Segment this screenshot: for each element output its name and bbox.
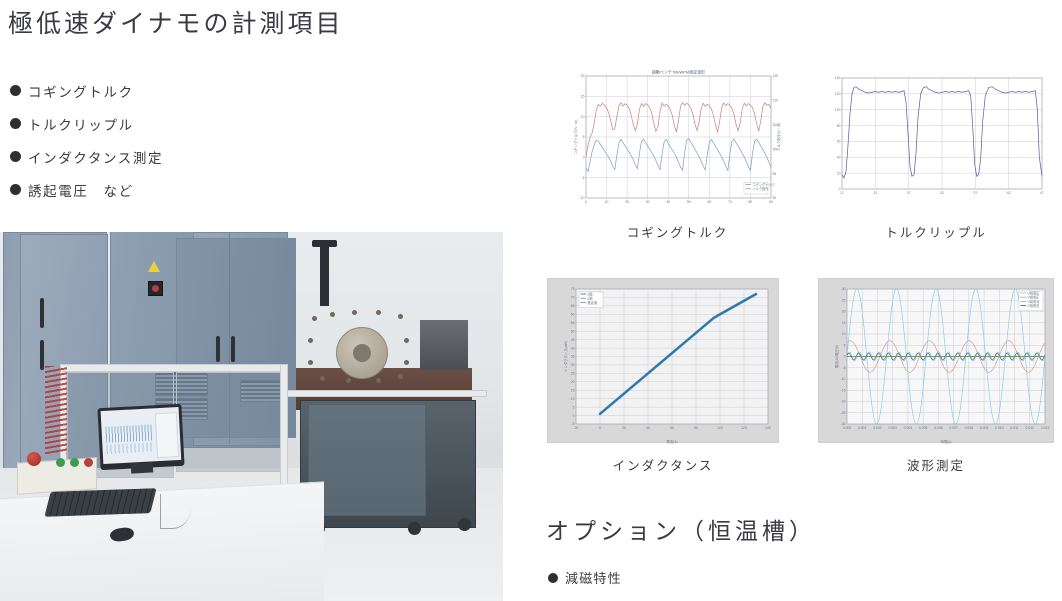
svg-text:10: 10	[581, 115, 585, 119]
svg-text:40: 40	[666, 200, 670, 204]
control-button-green[interactable]	[70, 458, 79, 467]
exhaust-pole-cap	[312, 240, 337, 247]
test-bench-photo	[0, 232, 503, 601]
svg-text:60: 60	[670, 426, 674, 430]
svg-text:120: 120	[741, 426, 747, 430]
svg-text:37: 37	[973, 191, 977, 195]
chart-waveform-svg: 0.0000.0010.0020.0030.0040.0050.0060.007…	[819, 279, 1055, 444]
svg-text:0.003: 0.003	[888, 426, 897, 430]
cable-bundle	[45, 366, 67, 454]
dyno-hub	[353, 344, 371, 362]
safety-rail-top	[60, 364, 287, 372]
svg-text:-5: -5	[581, 176, 584, 180]
svg-text:40: 40	[646, 426, 650, 430]
svg-text:推定値: 推定値	[588, 300, 598, 305]
svg-text:0.006: 0.006	[934, 426, 943, 430]
chart-inductance: -20020406080100120140-505101520253035404…	[547, 278, 779, 443]
svg-text:-20: -20	[574, 426, 579, 430]
svg-text:20: 20	[842, 310, 846, 314]
warning-triangle-icon	[148, 261, 160, 272]
svg-text:80: 80	[749, 200, 753, 204]
svg-text:0.008: 0.008	[965, 426, 974, 430]
list-item: コギングトルク	[10, 74, 340, 107]
list-item-label: 誘起電圧 など	[28, 180, 134, 200]
list-item-label: トルクリップル	[28, 114, 134, 134]
option-title: オプション（恒温槽）	[546, 512, 816, 546]
list-item: インダクタンス測定	[10, 140, 340, 173]
bullet-dot-icon	[548, 573, 558, 583]
svg-text:0.011: 0.011	[1010, 426, 1018, 430]
svg-text:45: 45	[571, 338, 575, 342]
svg-text:60: 60	[837, 140, 841, 144]
list-item: トルクリップル	[10, 107, 340, 140]
svg-text:75: 75	[571, 287, 575, 291]
chart-waveform: 0.0000.0010.0020.0030.0040.0050.0060.007…	[818, 278, 1054, 443]
svg-text:100: 100	[717, 426, 723, 430]
svg-text:0.012: 0.012	[1026, 426, 1035, 430]
svg-text:0.002: 0.002	[873, 426, 882, 430]
svg-text:50: 50	[571, 329, 575, 333]
keyboard[interactable]	[44, 488, 156, 517]
svg-text:5: 5	[844, 343, 846, 347]
svg-text:0.007: 0.007	[949, 426, 958, 430]
svg-text:0.005: 0.005	[919, 426, 928, 430]
exhaust-pole	[320, 240, 329, 306]
chart-cogging-torque-svg: 0102030405060708090-10-50510152090951001…	[560, 62, 795, 212]
svg-text:電流(A)/電圧(V): 電流(A)/電圧(V)	[834, 345, 839, 369]
svg-text:120: 120	[835, 92, 841, 96]
emergency-stop-button[interactable]	[27, 452, 41, 466]
chart-inductance-svg: -20020406080100120140-505101520253035404…	[548, 279, 780, 444]
svg-text:20: 20	[625, 200, 629, 204]
bullet-dot-icon	[10, 118, 21, 129]
svg-text:55: 55	[571, 321, 575, 325]
option-list-item-label: 減磁特性	[565, 568, 622, 587]
svg-text:0.001: 0.001	[858, 426, 867, 430]
svg-text:-10: -10	[841, 377, 846, 381]
svg-text:0.010: 0.010	[995, 426, 1004, 430]
svg-text:30: 30	[646, 200, 650, 204]
monitor-waveform	[105, 424, 152, 442]
chart-torque-ripple: 17222732374247020406080100120140	[822, 68, 1050, 203]
svg-text:70: 70	[728, 200, 732, 204]
svg-text:0.013: 0.013	[1041, 426, 1050, 430]
svg-text:0: 0	[583, 156, 585, 160]
measurement-items-list: コギングトルク トルクリップル インダクタンス測定 誘起電圧 など	[10, 74, 340, 206]
svg-text:-5: -5	[571, 422, 574, 426]
svg-text:115: 115	[773, 74, 779, 78]
list-item-label: コギングトルク	[28, 81, 134, 101]
svg-text:トルク指令(N・m): トルク指令(N・m)	[776, 123, 781, 151]
svg-text:20: 20	[571, 380, 575, 384]
list-item-label: インダクタンス測定	[28, 147, 163, 167]
monitor-panel	[155, 412, 179, 458]
svg-text:100: 100	[835, 108, 841, 112]
monitor-waveform	[106, 442, 152, 453]
svg-text:42: 42	[1007, 191, 1011, 195]
monitor-screen	[101, 407, 182, 464]
svg-text:0: 0	[844, 355, 846, 359]
svg-text:95: 95	[773, 172, 777, 176]
bullet-dot-icon	[10, 184, 21, 195]
svg-text:50: 50	[687, 200, 691, 204]
dyno-cart-window	[308, 404, 426, 516]
svg-text:5: 5	[573, 405, 575, 409]
option-list-item: 減磁特性	[548, 568, 622, 587]
svg-text:-5: -5	[842, 366, 845, 370]
svg-text:65: 65	[571, 304, 575, 308]
chart-caption-cogging-torque: コギングトルク	[560, 222, 795, 241]
svg-text:20: 20	[581, 74, 585, 78]
svg-text:-30: -30	[841, 422, 846, 426]
svg-text:10: 10	[842, 332, 846, 336]
cabinet-handle	[40, 298, 44, 328]
svg-text:10: 10	[605, 200, 609, 204]
bullet-dot-icon	[10, 151, 21, 162]
svg-text:17: 17	[840, 191, 844, 195]
list-item: 誘起電圧 など	[10, 173, 340, 206]
svg-text:30: 30	[842, 287, 846, 291]
svg-text:110: 110	[773, 99, 779, 103]
svg-text:47: 47	[1040, 191, 1044, 195]
svg-text:-25: -25	[841, 411, 846, 415]
svg-text:0: 0	[599, 426, 601, 430]
svg-text:0.009: 0.009	[980, 426, 989, 430]
svg-text:22: 22	[873, 191, 877, 195]
svg-text:0: 0	[585, 200, 587, 204]
svg-text:20: 20	[622, 426, 626, 430]
safety-rail-top	[287, 390, 487, 397]
svg-text:10: 10	[571, 397, 575, 401]
svg-text:5: 5	[583, 135, 585, 139]
svg-text:90: 90	[773, 196, 777, 200]
emergency-stop-icon	[148, 281, 163, 296]
svg-text:32: 32	[940, 191, 944, 195]
slide-page: 極低速ダイナモの計測項目 コギングトルク トルクリップル インダクタンス測定 誘…	[0, 0, 1062, 601]
svg-text:揺動ベンチ 50kWPM測定波形: 揺動ベンチ 50kWPM測定波形	[652, 69, 705, 75]
chart-caption-inductance: インダクタンス	[547, 455, 779, 474]
svg-text:15: 15	[571, 388, 575, 392]
svg-text:80: 80	[837, 124, 841, 128]
svg-text:-15: -15	[841, 388, 846, 392]
svg-text:140: 140	[835, 76, 841, 80]
svg-text:27: 27	[907, 191, 911, 195]
svg-text:80: 80	[694, 426, 698, 430]
svg-text:0.000: 0.000	[843, 426, 852, 430]
monitor-stand	[131, 462, 153, 473]
svg-text:0: 0	[839, 187, 841, 191]
svg-text:30: 30	[571, 363, 575, 367]
svg-text:15: 15	[842, 321, 846, 325]
svg-text:25: 25	[842, 298, 846, 302]
cabinet-handle	[40, 340, 44, 370]
svg-text:トルク指令: トルク指令	[753, 186, 770, 191]
dyno-motor-block	[420, 320, 468, 370]
control-button-green[interactable]	[56, 458, 65, 467]
svg-text:20: 20	[837, 171, 841, 175]
cabinet-handle	[231, 336, 235, 362]
bullet-dot-icon	[10, 85, 21, 96]
svg-text:15: 15	[581, 95, 585, 99]
svg-text:70: 70	[571, 296, 575, 300]
svg-text:0.004: 0.004	[904, 426, 913, 430]
svg-text:コギングトルク(N・m): コギングトルク(N・m)	[573, 120, 578, 155]
svg-text:電流(A): 電流(A)	[666, 439, 677, 444]
svg-text:-10: -10	[580, 196, 585, 200]
svg-text:40: 40	[571, 346, 575, 350]
svg-text:インダクタンス(mH): インダクタンス(mH)	[563, 341, 568, 372]
monitor	[97, 404, 184, 470]
svg-text:90: 90	[769, 200, 773, 204]
svg-text:時間(s): 時間(s)	[941, 439, 952, 444]
chart-caption-waveform: 波形測定	[818, 455, 1054, 474]
chart-torque-ripple-svg: 17222732374247020406080100120140	[822, 68, 1050, 203]
svg-text:V相電流: V相電流	[1028, 303, 1041, 308]
svg-text:60: 60	[707, 200, 711, 204]
chart-caption-torque-ripple: トルクリップル	[822, 222, 1050, 241]
chart-cogging-torque: 0102030405060708090-10-50510152090951001…	[560, 62, 795, 212]
svg-text:40: 40	[837, 155, 841, 159]
page-title: 極低速ダイナモの計測項目	[8, 4, 344, 40]
svg-text:140: 140	[765, 426, 771, 430]
svg-text:25: 25	[571, 372, 575, 376]
safety-glass-panel	[176, 372, 282, 472]
svg-text:60: 60	[571, 313, 575, 317]
svg-text:35: 35	[571, 355, 575, 359]
control-button-red[interactable]	[84, 458, 93, 467]
svg-text:-20: -20	[841, 400, 846, 404]
svg-text:0: 0	[573, 414, 575, 418]
cabinet-handle	[216, 336, 220, 362]
